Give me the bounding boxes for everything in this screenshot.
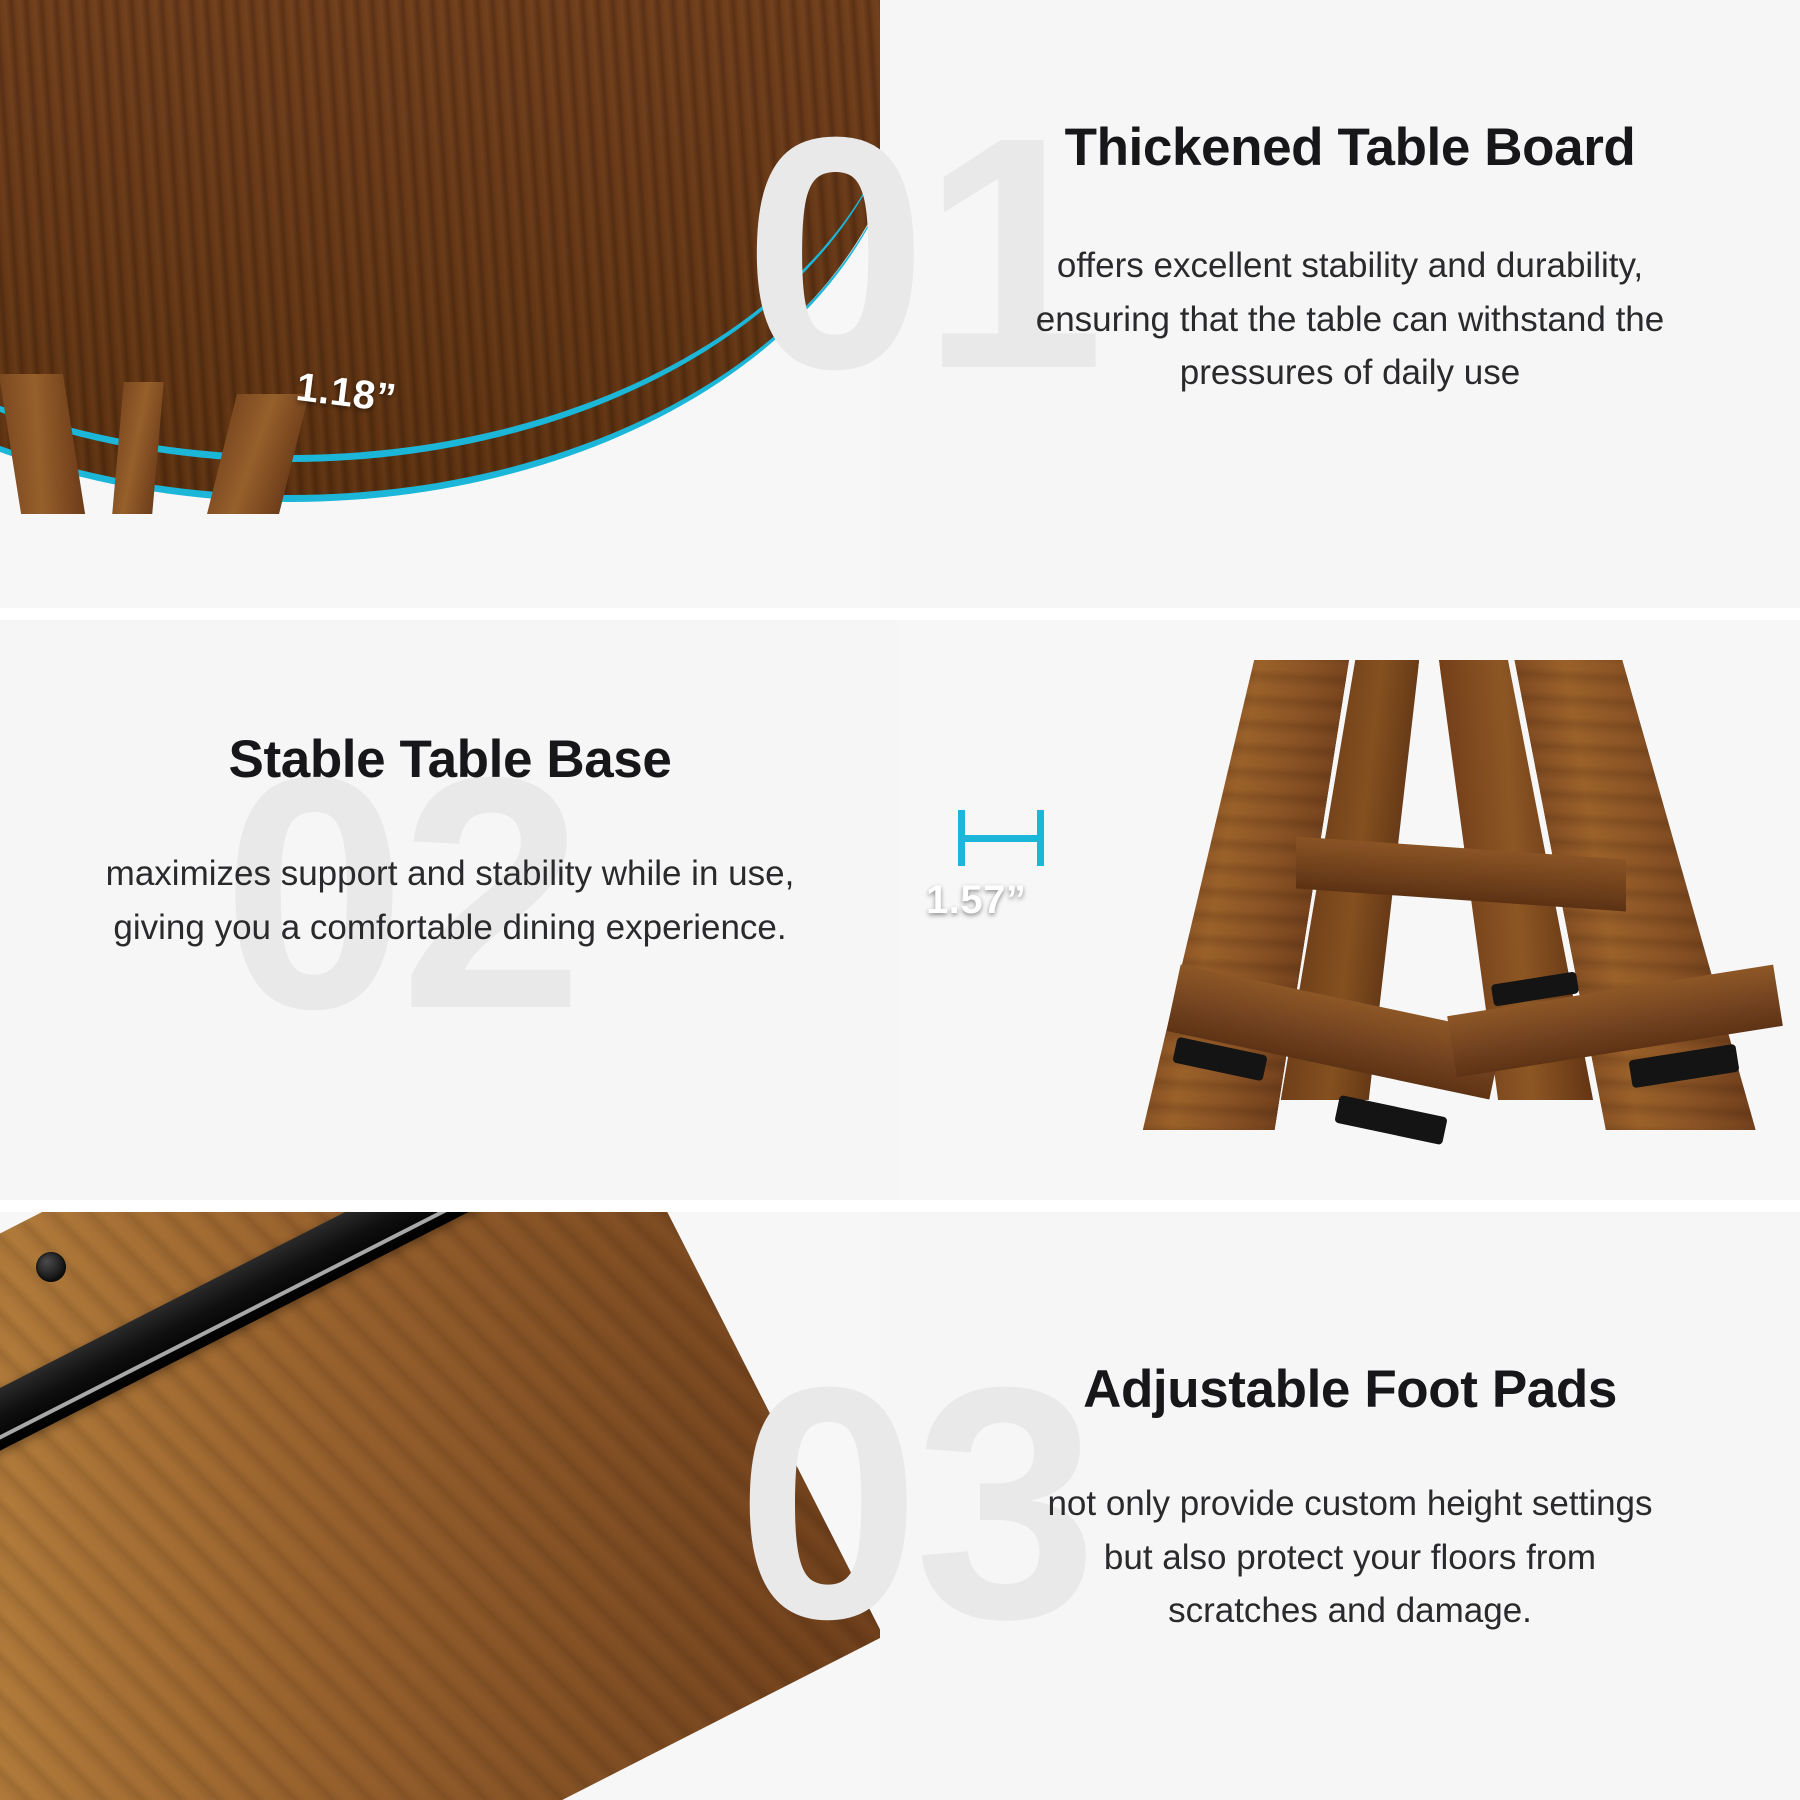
- panel-divider: [0, 608, 1800, 620]
- feature-heading-02: Stable Table Base: [229, 730, 672, 789]
- feature-body-03: not only provide custom height settings …: [1030, 1477, 1670, 1637]
- feature-body-01: offers excellent stability and durabilit…: [990, 239, 1710, 399]
- panel-divider: [0, 1200, 1800, 1212]
- product-photo-table-base: 1.57”: [900, 620, 1800, 1200]
- feature-heading-03: Adjustable Foot Pads: [1083, 1360, 1617, 1419]
- feature-text-block-02: Stable Table Base maximizes support and …: [0, 620, 900, 1200]
- feature-text-block-03: Adjustable Foot Pads not only provide cu…: [900, 1212, 1800, 1800]
- feature-body-02: maximizes support and stability while in…: [100, 847, 800, 953]
- screw-icon: [36, 1252, 66, 1282]
- dimension-bracket-base: [958, 810, 1044, 866]
- feature-panel-03: 03 Adjustable Foot Pads not only provide…: [0, 1212, 1800, 1800]
- feature-panel-01: 1.18” 01 Thickened Table Board offers ex…: [0, 0, 1800, 608]
- feature-panel-02: 1.57” 02 Stable Table Base maximizes sup…: [0, 620, 1800, 1200]
- product-feature-infographic: 1.18” 01 Thickened Table Board offers ex…: [0, 0, 1800, 1800]
- foot-cap: [1334, 1095, 1447, 1145]
- feature-heading-01: Thickened Table Board: [1065, 118, 1636, 177]
- feature-text-block-01: Thickened Table Board offers excellent s…: [900, 0, 1800, 608]
- dimension-label-base-thickness: 1.57”: [926, 878, 1026, 923]
